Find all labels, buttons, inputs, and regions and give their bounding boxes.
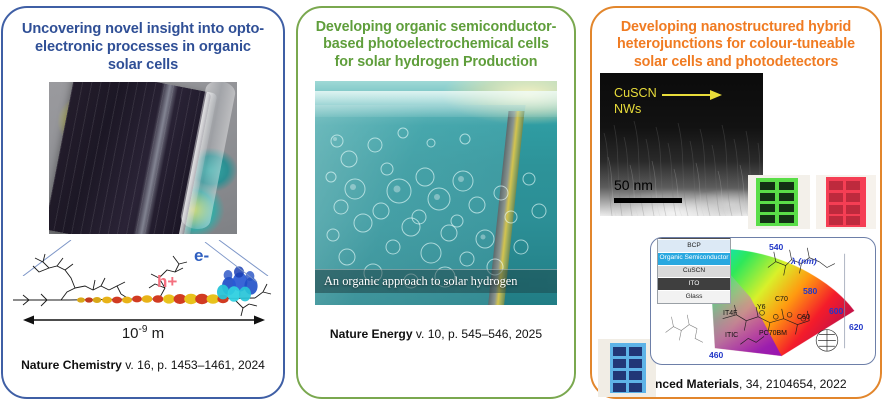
panel-1-citation: Nature Chemistry v. 16, p. 1453–1461, 20… xyxy=(21,358,265,372)
solar-cell-photo-image xyxy=(49,82,237,234)
molecule-label-pc70bm: PC70BM xyxy=(759,330,787,337)
stack-layer-cuscn: CuSCN xyxy=(658,266,730,279)
panel-3-citation-rest: , 34, 2104654, 2022 xyxy=(739,377,847,391)
molecule-label-c60: C60 xyxy=(797,314,810,321)
poster-root: Uncovering novel insight into opto-elect… xyxy=(0,0,882,405)
electron-label: e- xyxy=(194,246,209,266)
panel-1-journal: Nature Chemistry xyxy=(21,358,122,372)
photo-caption-bar: An organic approach to solar hydrogen xyxy=(315,269,557,293)
molecule-label-it4f: IT4F xyxy=(723,310,737,317)
stack-layer-bcp: BCP xyxy=(658,240,730,253)
scale-bar-label: 50 nm xyxy=(614,177,653,193)
photoelectrode-photo-image: An organic approach to solar hydrogen xyxy=(315,81,557,305)
panel-organic-solar-cells: Uncovering novel insight into opto-elect… xyxy=(1,6,285,399)
hole-label: h+ xyxy=(157,272,177,292)
tem-micrograph: CuSCN NWs 50 nm xyxy=(600,73,763,216)
solar-cell-photo xyxy=(49,82,237,234)
scale-label: 10-9 m xyxy=(9,324,277,342)
device-photo-green xyxy=(748,175,810,229)
scale-base: 10 xyxy=(122,325,139,342)
cie-wavelength-540: 540 xyxy=(769,242,783,252)
scale-bar xyxy=(614,198,682,203)
panel-2-citation: Nature Energy v. 10, p. 545–546, 2025 xyxy=(330,327,542,341)
molecule-label-itic: ITIC xyxy=(725,332,738,339)
cie-wavelength-460: 460 xyxy=(709,350,723,360)
panel-1-title: Uncovering novel insight into opto-elect… xyxy=(17,21,269,74)
panel-solar-hydrogen: Developing organic semiconductor-based p… xyxy=(296,6,576,399)
cie-wavelength-580: 580 xyxy=(803,286,817,296)
scale-unit: m xyxy=(147,325,164,342)
device-photo-blue xyxy=(598,339,656,397)
stack-layer-glass: Glass xyxy=(658,291,730,303)
cie-chromaticity-card: 540 580 600 620 460 λ (nm) IT4F ITIC Y6 … xyxy=(650,237,876,365)
device-photo-red xyxy=(816,175,876,229)
cie-wavelength-620: 620 xyxy=(849,322,863,332)
panel-2-journal: Nature Energy xyxy=(330,327,413,341)
panel-3-citation: Advanced Materials, 34, 2104654, 2022 xyxy=(625,377,846,391)
cuscn-arrow-icon xyxy=(662,89,722,101)
panel-hybrid-heterojunctions: Developing nanostructured hybrid heteroj… xyxy=(590,6,882,399)
panel-1-citation-rest: v. 16, p. 1453–1461, 2024 xyxy=(122,358,265,372)
stack-layer-ito-bot: ITO xyxy=(658,278,730,291)
panel-3-title: Developing nanostructured hybrid heteroj… xyxy=(600,19,872,71)
cie-wavelength-600: 600 xyxy=(829,306,843,316)
cuscn-nanowire-label: CuSCN NWs xyxy=(614,86,657,117)
cie-axis-label: λ (nm) xyxy=(791,256,817,266)
molecular-diagram: e- h+ 10-9 m xyxy=(9,242,277,346)
molecule-label-y6: Y6 xyxy=(757,304,766,311)
photo-caption: An organic approach to solar hydrogen xyxy=(315,274,518,289)
cell-highlight-strip xyxy=(131,84,178,235)
device-stack-diagram: ITO BCP Organic Semiconductor CuSCN ITO … xyxy=(657,237,731,304)
photoelectrode-photo: An organic approach to solar hydrogen xyxy=(315,81,557,305)
panel-2-citation-rest: v. 10, p. 545–546, 2025 xyxy=(413,327,543,341)
panel-3-figure: CuSCN NWs 50 nm xyxy=(590,71,882,371)
stack-layer-organic: Organic Semiconductor xyxy=(658,253,730,266)
panel-2-title: Developing organic semiconductor-based p… xyxy=(312,19,560,71)
molecule-label-c70: C70 xyxy=(775,296,788,303)
